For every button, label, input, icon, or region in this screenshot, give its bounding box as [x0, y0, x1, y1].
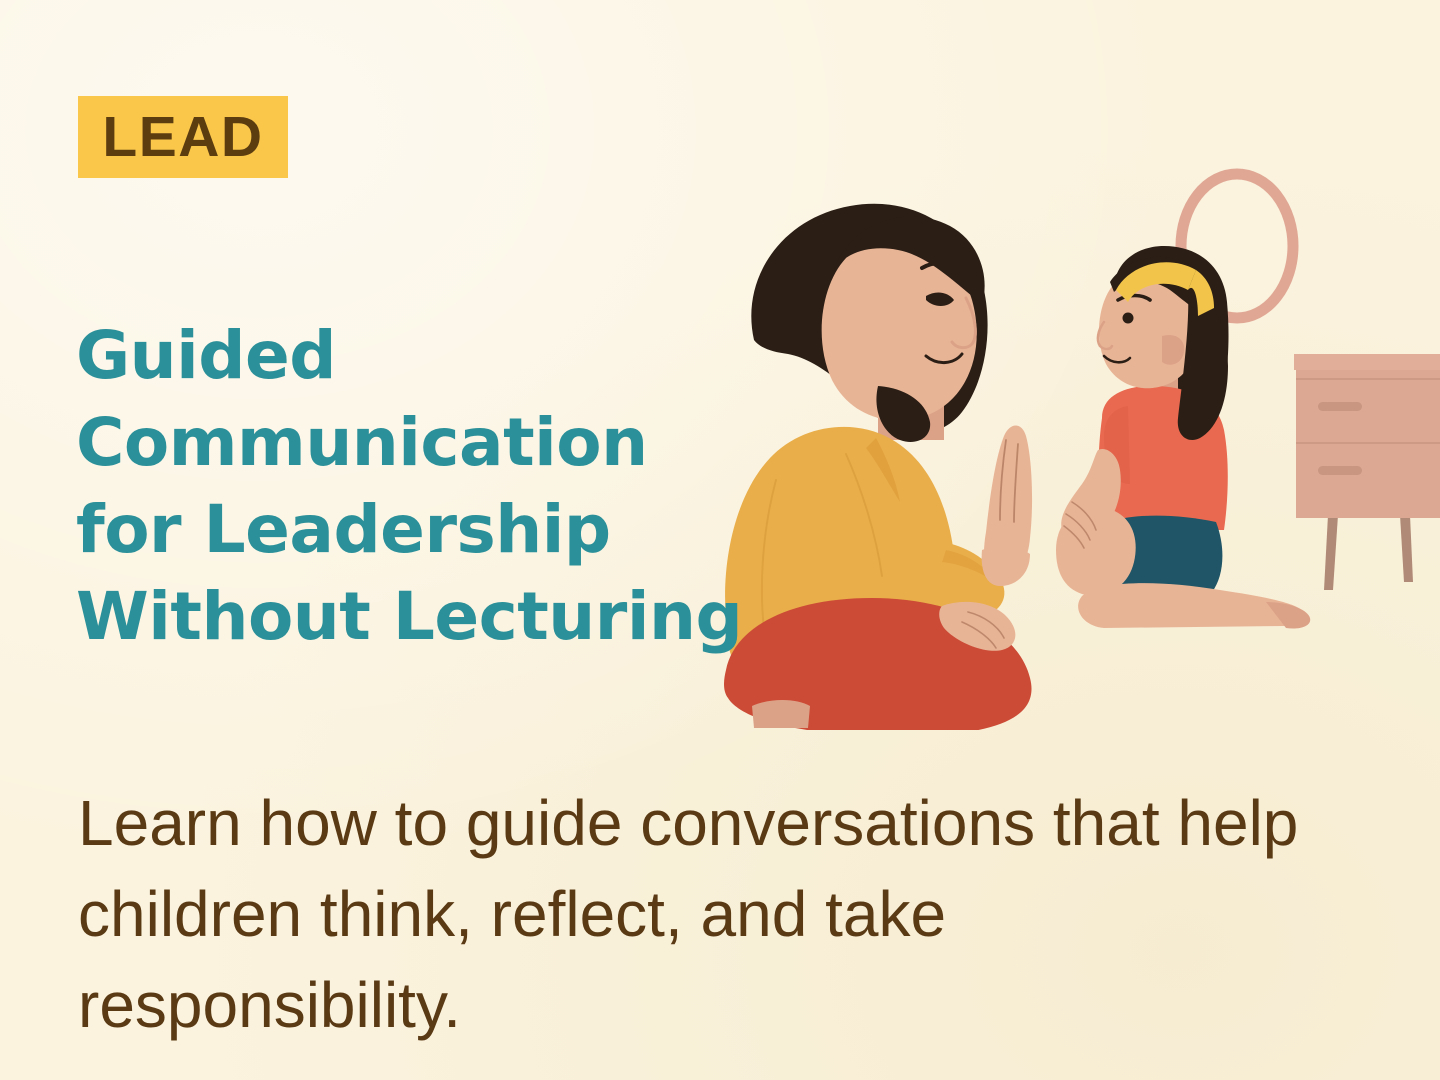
title-line-1: Guided: [76, 312, 776, 399]
title-line-3: for Leadership: [76, 486, 776, 573]
title-line-4: Without Lecturing: [76, 573, 776, 660]
title-line-2: Communication: [76, 399, 776, 486]
dresser-group: [1294, 354, 1440, 590]
lead-badge-label: LEAD: [102, 109, 263, 166]
page-title: Guided Communication for Leadership With…: [76, 312, 776, 660]
slide-canvas: LEAD Guided Communication for Leadership…: [0, 0, 1440, 1080]
woman-raised-hand: [982, 426, 1032, 587]
page-subtitle: Learn how to guide conversations that he…: [78, 778, 1338, 1051]
illustration-parent-and-child: [700, 150, 1440, 730]
lead-badge: LEAD: [78, 96, 288, 178]
